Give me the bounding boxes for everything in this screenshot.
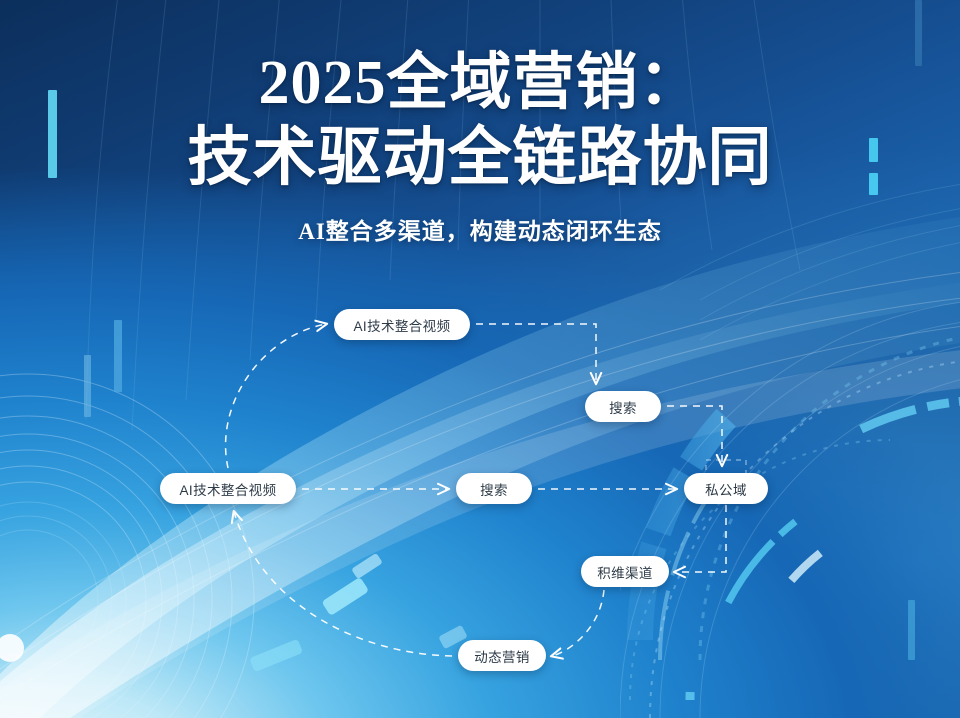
- flow-node-label: AI技术整合视频: [180, 479, 277, 499]
- flow-node-n5[interactable]: 私公域: [684, 473, 768, 504]
- flow-node-label: 动态营销: [474, 646, 530, 666]
- flow-connectors: [0, 0, 960, 718]
- flow-node-n2[interactable]: 搜索: [585, 391, 661, 422]
- edge-n2-n5: [667, 406, 722, 465]
- flow-node-n6[interactable]: 积维渠道: [581, 556, 669, 587]
- flow-node-label: 搜索: [609, 397, 637, 417]
- flow-node-label: 积维渠道: [597, 562, 653, 582]
- edge-n6-n7: [552, 590, 604, 656]
- flow-node-n4[interactable]: 搜索: [456, 473, 532, 504]
- flow-node-label: 搜索: [480, 479, 508, 499]
- edge-n5-n6: [675, 505, 726, 572]
- flow-diagram: AI技术整合视频搜索AI技术整合视频搜索私公域积维渠道动态营销: [0, 0, 960, 718]
- edge-n1-n2: [476, 324, 596, 383]
- flow-node-n3[interactable]: AI技术整合视频: [160, 473, 296, 504]
- poster-canvas: 2025全域营销： 技术驱动全链路协同 AI整合多渠道，构建动态闭环生态: [0, 0, 960, 718]
- flow-node-n1[interactable]: AI技术整合视频: [334, 309, 470, 340]
- flow-node-label: AI技术整合视频: [354, 315, 451, 335]
- edge-n3-n1: [226, 324, 326, 468]
- flow-node-label: 私公域: [705, 479, 747, 499]
- flow-node-n7[interactable]: 动态营销: [458, 640, 546, 671]
- edge-n7-n3: [234, 512, 452, 656]
